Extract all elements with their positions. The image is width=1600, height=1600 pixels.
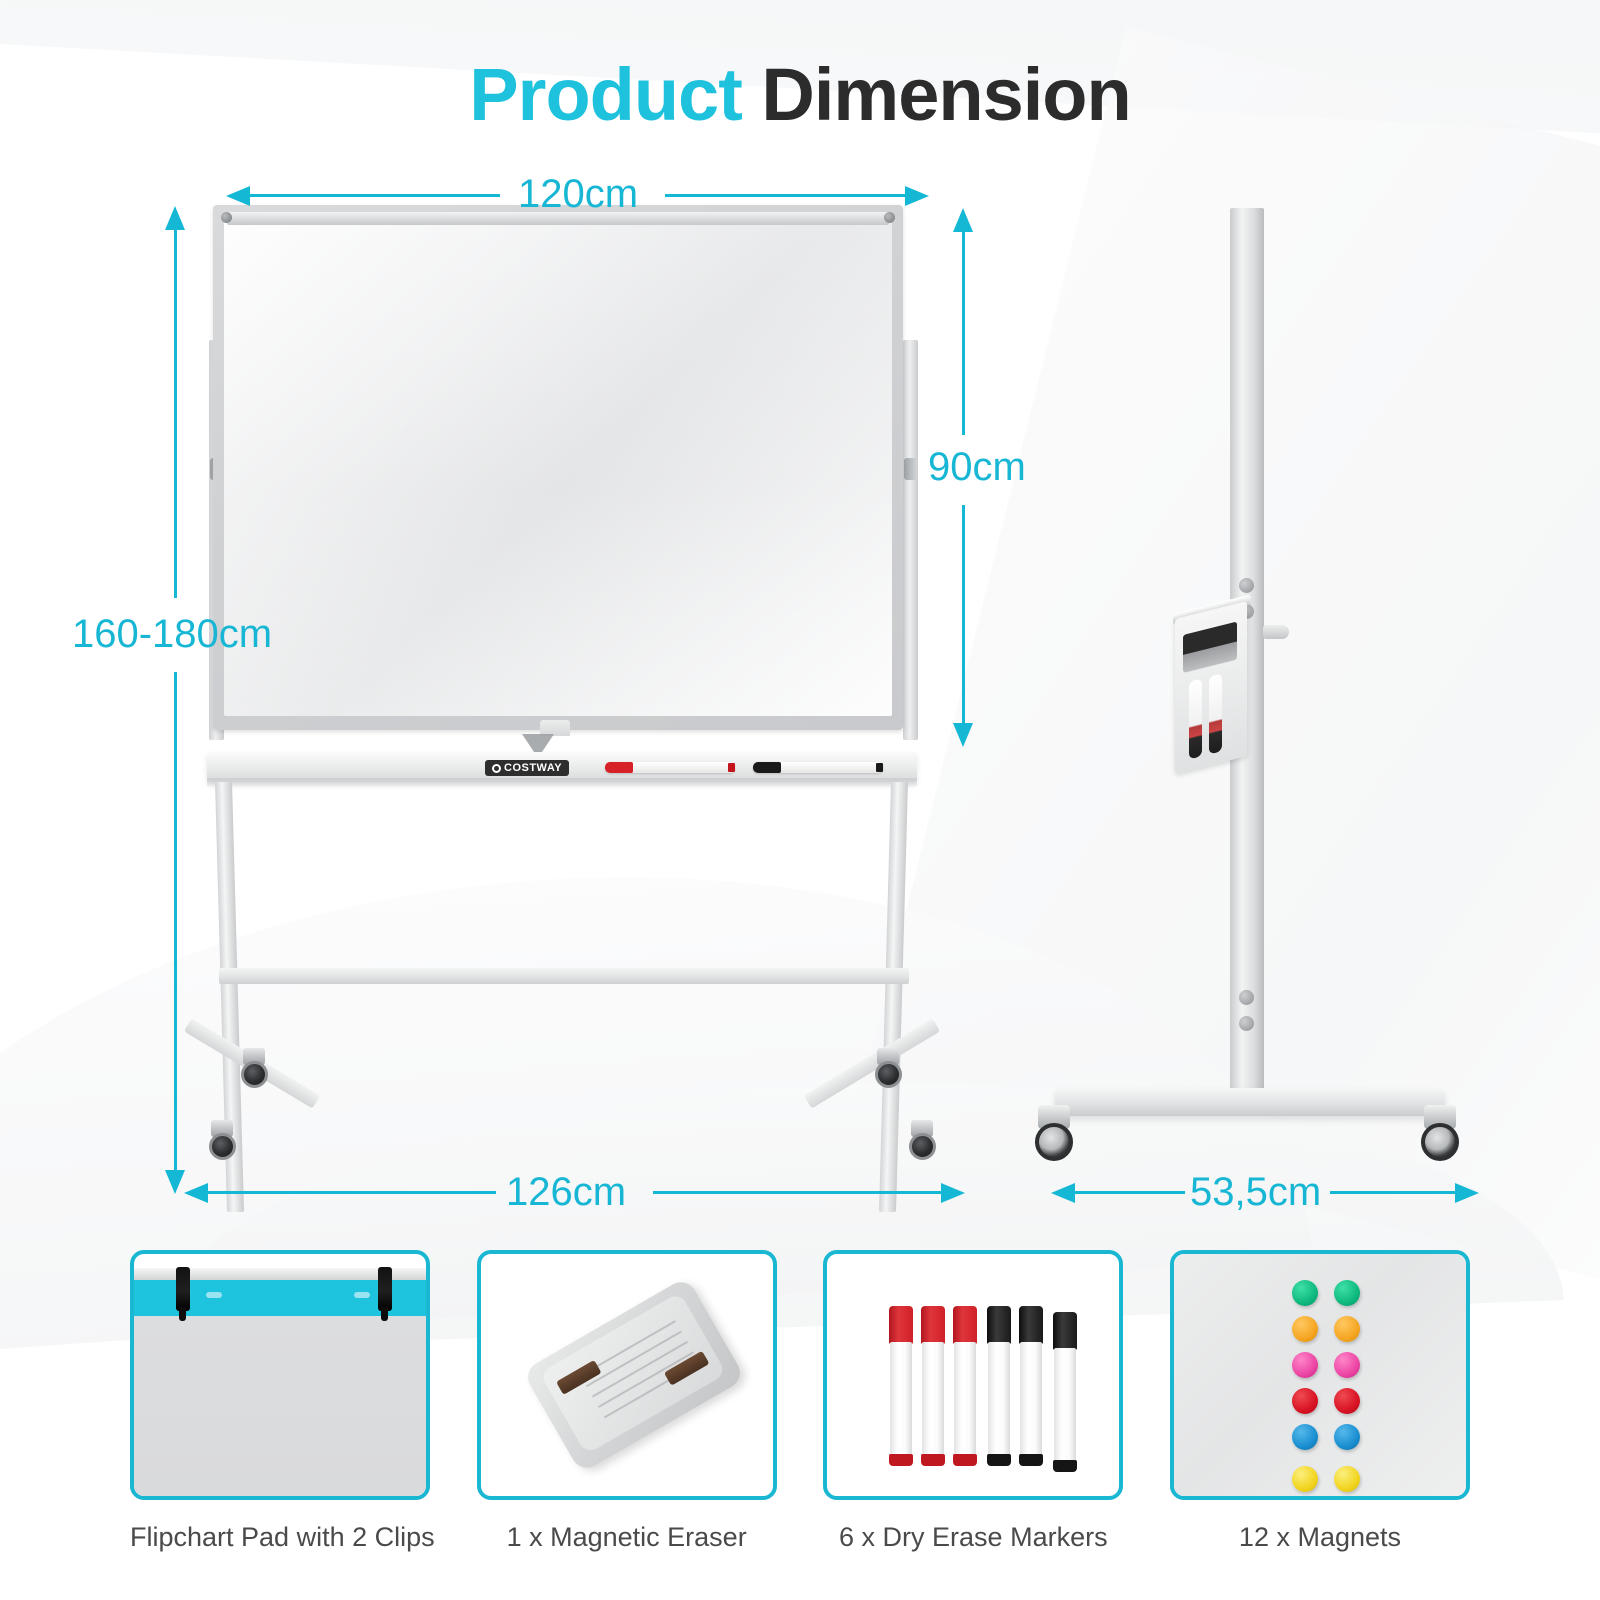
flipchart-clip xyxy=(176,1267,190,1311)
height-adjust-hole xyxy=(1239,578,1254,593)
arrow-down-icon xyxy=(165,1170,185,1194)
dimension-line xyxy=(665,194,905,197)
marker-cap-icon xyxy=(753,762,781,773)
magnet-green xyxy=(1334,1280,1360,1306)
magnet-red xyxy=(1292,1388,1318,1414)
arrow-up-icon xyxy=(165,206,185,230)
marker-cap-icon xyxy=(921,1306,945,1344)
dimension-line xyxy=(962,230,965,435)
accessory-flipchart-pad[interactable]: Flipchart Pad with 2 Clips xyxy=(130,1250,430,1570)
arrow-left-icon xyxy=(226,186,250,206)
dimension-line xyxy=(962,505,965,725)
dimension-label-base-width: 126cm xyxy=(506,1170,626,1215)
accessories-row: Flipchart Pad with 2 Clips xyxy=(130,1250,1470,1570)
marker-end-icon xyxy=(953,1454,977,1466)
arrow-up-icon xyxy=(953,208,973,232)
dimension-line xyxy=(653,1191,941,1194)
logo-ring-icon xyxy=(492,764,501,773)
marker-body xyxy=(988,1342,1010,1458)
height-adjust-hole xyxy=(1239,990,1254,1005)
stand-foot-right xyxy=(804,1018,940,1108)
dimension-line xyxy=(1330,1191,1455,1194)
flipchart-clip xyxy=(378,1267,392,1311)
caster-tire xyxy=(875,1061,902,1088)
stand-post-right xyxy=(879,782,908,1212)
screw-icon xyxy=(221,212,232,223)
marker-body xyxy=(954,1342,976,1458)
caster-wheel xyxy=(907,1120,937,1164)
dimension-label-base-depth: 53,5cm xyxy=(1190,1170,1321,1215)
costway-logo: COSTWAY xyxy=(485,760,569,776)
arrow-right-icon xyxy=(941,1183,965,1203)
product-dimension-infographic: Product Dimension COSTWAY xyxy=(0,0,1600,1600)
magnet-red xyxy=(1334,1388,1360,1414)
caster-tire xyxy=(1421,1123,1459,1161)
caster-tire xyxy=(241,1061,268,1088)
eraser-top-face xyxy=(539,1292,726,1454)
marker-end-icon xyxy=(1019,1454,1043,1466)
marker-tray-shadow xyxy=(207,778,917,788)
eraser-body xyxy=(522,1276,746,1473)
whiteboard-frame xyxy=(213,205,903,730)
side-base-bar xyxy=(1055,1088,1445,1116)
accessory-caption: 1 x Magnetic Eraser xyxy=(477,1522,777,1553)
magnet-board xyxy=(1174,1254,1466,1496)
marker-end-icon xyxy=(987,1454,1011,1466)
side-marker-tray xyxy=(1175,601,1247,774)
accessory-image-box xyxy=(1170,1250,1470,1500)
title-rest: Dimension xyxy=(742,53,1131,136)
side-view-illustration xyxy=(1025,200,1475,1190)
dimension-label-total-height: 160-180cm xyxy=(72,612,272,657)
magnet-pink xyxy=(1334,1352,1360,1378)
marker-cap-icon xyxy=(987,1306,1011,1344)
dimension-label-width-top: 120cm xyxy=(518,172,638,217)
marker-end-icon xyxy=(921,1454,945,1466)
accessory-caption: 6 x Dry Erase Markers xyxy=(823,1522,1123,1553)
marker-body xyxy=(922,1342,944,1458)
magnet-blue xyxy=(1292,1424,1318,1450)
height-adjust-hole xyxy=(1239,1016,1254,1031)
arrow-right-icon xyxy=(905,186,929,206)
pivot-arm-right xyxy=(903,340,918,740)
caster-wheel xyxy=(873,1048,903,1092)
caster-wheel xyxy=(239,1048,269,1092)
marker-body xyxy=(890,1342,912,1458)
magnet-yellow xyxy=(1334,1466,1360,1492)
arrow-right-icon xyxy=(1455,1183,1479,1203)
logo-text: COSTWAY xyxy=(504,762,562,774)
side-pivot-knob xyxy=(1263,625,1289,639)
marker-tip-icon xyxy=(876,763,883,772)
pivot-knob-right xyxy=(904,458,917,480)
magnet-orange xyxy=(1292,1316,1318,1342)
accessory-magnetic-eraser[interactable]: 1 x Magnetic Eraser xyxy=(477,1250,777,1570)
flipchart-hole xyxy=(354,1292,370,1298)
dimension-line xyxy=(174,672,177,1172)
marker-end-icon xyxy=(1053,1460,1077,1472)
marker-body xyxy=(1020,1342,1042,1458)
dimension-line xyxy=(174,228,177,598)
tray-marker-red xyxy=(605,762,735,773)
caster-wheel xyxy=(207,1120,237,1164)
marker-cap-icon xyxy=(1053,1312,1077,1350)
whiteboard-surface xyxy=(224,216,892,716)
accessory-image-box xyxy=(823,1250,1123,1500)
accessory-image-box xyxy=(477,1250,777,1500)
page-title: Product Dimension xyxy=(0,52,1600,137)
marker-cap-icon xyxy=(1019,1306,1043,1344)
accessory-dry-erase-markers[interactable]: 6 x Dry Erase Markers xyxy=(823,1250,1123,1570)
side-marker xyxy=(1209,673,1222,754)
stand-crossbar xyxy=(219,968,909,984)
magnet-yellow xyxy=(1292,1466,1318,1492)
flipchart-hole xyxy=(206,1292,222,1298)
markers-group xyxy=(827,1254,1119,1496)
marker-black xyxy=(987,1306,1011,1466)
magnet-blue xyxy=(1334,1424,1360,1450)
side-eraser xyxy=(1183,622,1237,673)
dimension-line xyxy=(208,1191,496,1194)
accessory-image-box xyxy=(130,1250,430,1500)
dimension-line xyxy=(1075,1191,1185,1194)
front-view-illustration: COSTWAY xyxy=(185,200,945,1190)
tray-marker-black xyxy=(753,762,883,773)
screw-icon xyxy=(884,212,895,223)
marker-red xyxy=(921,1306,945,1466)
dimension-line xyxy=(250,194,500,197)
caster-tire xyxy=(1035,1123,1073,1161)
marker-red xyxy=(889,1306,913,1466)
magnet-pink xyxy=(1292,1352,1318,1378)
marker-black xyxy=(1053,1312,1077,1472)
arrow-left-icon xyxy=(184,1183,208,1203)
side-caster-wheel xyxy=(1419,1105,1461,1167)
side-caster-wheel xyxy=(1033,1105,1075,1167)
title-highlight: Product xyxy=(469,53,742,136)
marker-end-icon xyxy=(889,1454,913,1466)
marker-red xyxy=(953,1306,977,1466)
eraser-magnet-strip xyxy=(556,1360,602,1395)
caster-tire xyxy=(209,1133,236,1160)
magnet-green xyxy=(1292,1280,1318,1306)
marker-cap-icon xyxy=(605,762,633,773)
arrow-down-icon xyxy=(953,723,973,747)
marker-body xyxy=(1054,1348,1076,1464)
marker-black xyxy=(1019,1306,1043,1466)
caster-tire xyxy=(909,1133,936,1160)
marker-cap-icon xyxy=(889,1306,913,1344)
flipchart-paper xyxy=(134,1316,426,1496)
dimension-label-board-height: 90cm xyxy=(928,445,1026,490)
accessory-caption: Flipchart Pad with 2 Clips xyxy=(130,1522,430,1553)
arrow-left-icon xyxy=(1051,1183,1075,1203)
marker-tip-icon xyxy=(728,763,735,772)
side-marker xyxy=(1189,678,1202,759)
magnet-orange xyxy=(1334,1316,1360,1342)
accessory-magnets[interactable]: 12 x Magnets xyxy=(1170,1250,1470,1570)
accessory-caption: 12 x Magnets xyxy=(1170,1522,1470,1553)
marker-cap-icon xyxy=(953,1306,977,1344)
